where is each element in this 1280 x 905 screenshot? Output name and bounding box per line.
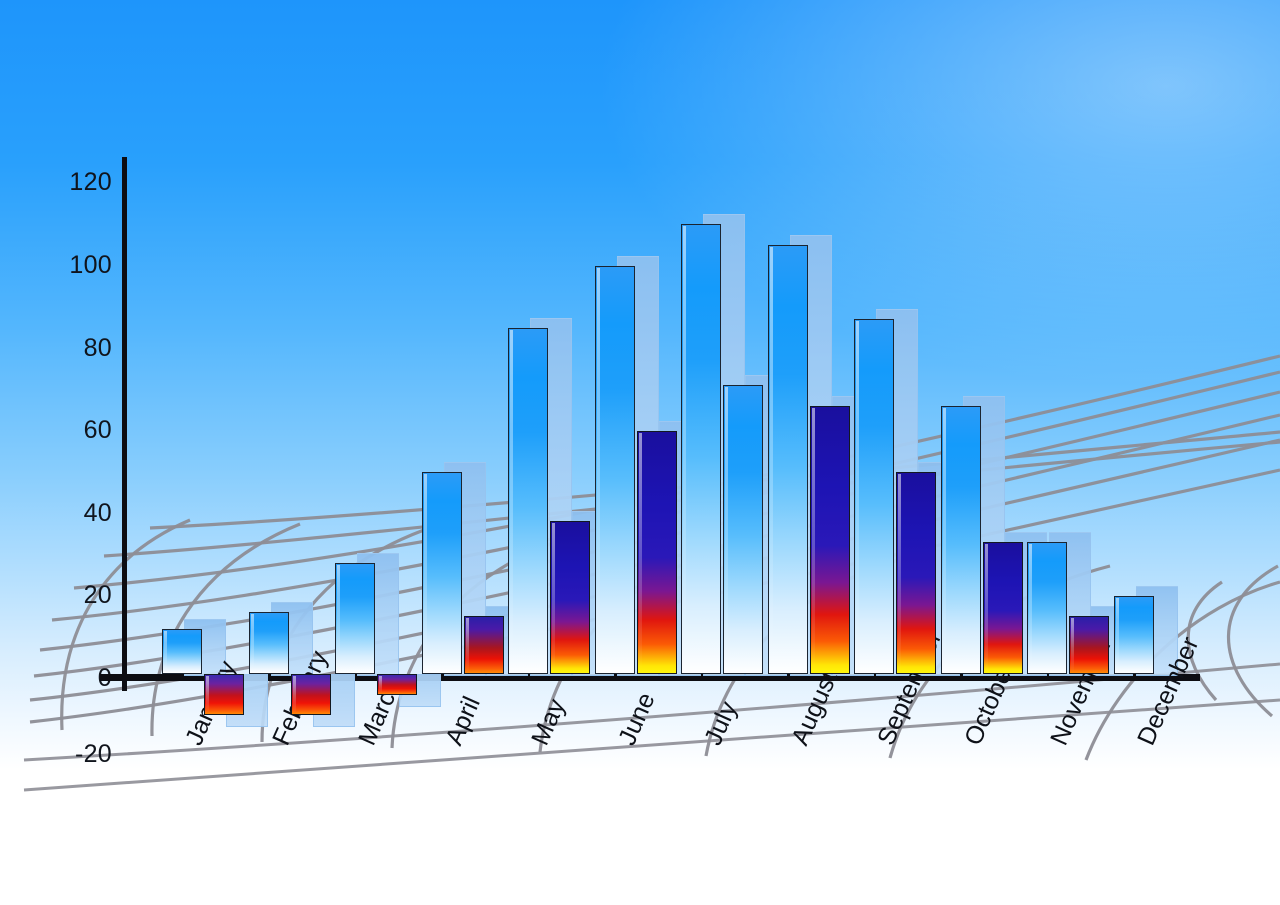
bar-april-series2[interactable] — [464, 616, 504, 674]
ytick-label: 40 — [46, 499, 112, 528]
ytick-label: 120 — [46, 168, 112, 197]
x-label-may: May — [526, 695, 572, 750]
bar-july-series1[interactable] — [681, 224, 721, 674]
y-axis — [122, 157, 127, 691]
bar-march-series1[interactable] — [335, 563, 375, 674]
x-label-june: June — [613, 688, 662, 749]
plot-area: 120 100 80 60 40 20 0 -20 JanuaryFebruar… — [0, 0, 1280, 905]
bar-january-series2[interactable] — [204, 674, 244, 715]
ytick-label: -20 — [46, 740, 112, 769]
bar-may-series2[interactable] — [550, 521, 590, 674]
bar-november-series1[interactable] — [1027, 542, 1067, 674]
ytick-label: 20 — [46, 581, 112, 610]
bar-december-series1[interactable] — [1114, 596, 1154, 674]
bar-august-series2[interactable] — [810, 406, 850, 674]
ytick-label: 100 — [46, 251, 112, 280]
bar-june-series2[interactable] — [637, 431, 677, 674]
bar-august-series1[interactable] — [768, 245, 808, 674]
bar-march-series2[interactable] — [377, 674, 417, 695]
bar-february-series1[interactable] — [249, 612, 289, 674]
chart-canvas: 120 100 80 60 40 20 0 -20 JanuaryFebruar… — [0, 0, 1280, 905]
bar-september-series2[interactable] — [896, 472, 936, 674]
bar-february-series2[interactable] — [291, 674, 331, 715]
bar-september-series1[interactable] — [854, 319, 894, 674]
bar-january-series1[interactable] — [162, 629, 202, 674]
bar-october-series2[interactable] — [983, 542, 1023, 674]
x-label-april: April — [440, 692, 487, 749]
bar-july-series2[interactable] — [723, 385, 763, 674]
bar-november-series2[interactable] — [1069, 616, 1109, 674]
ytick-label: 60 — [46, 416, 112, 445]
bar-october-series1[interactable] — [941, 406, 981, 674]
x-label-july: July — [699, 697, 744, 749]
bar-april-series1[interactable] — [422, 472, 462, 674]
bar-june-series1[interactable] — [595, 266, 635, 674]
ytick-label: 80 — [46, 334, 112, 363]
bar-may-series1[interactable] — [508, 328, 548, 675]
